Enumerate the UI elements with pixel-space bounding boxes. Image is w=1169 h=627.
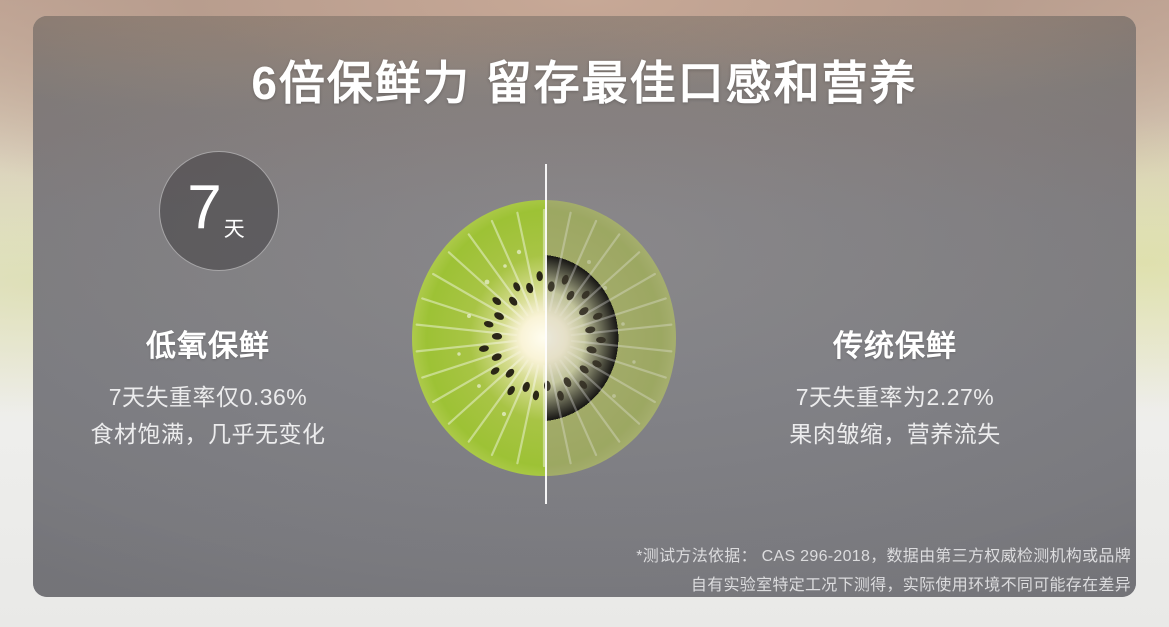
duration-badge: 7 天 bbox=[159, 151, 279, 271]
right-description-line: 果肉皱缩，营养流失 bbox=[730, 416, 1060, 453]
duration-badge-content: 7 天 bbox=[160, 152, 278, 270]
left-description-line: 食材饱满，几乎无变化 bbox=[43, 416, 373, 453]
footnote-line-1: *测试方法依据： CAS 296-2018，数据由第三方权威检测机构或品牌 bbox=[471, 542, 1131, 572]
duration-badge-number: 7 bbox=[187, 177, 221, 239]
duration-badge-unit: 天 bbox=[224, 219, 245, 240]
kiwi-slice-illustration bbox=[409, 196, 679, 479]
comparison-column-right: 传统保鲜 7天失重率为2.27% 果肉皱缩，营养流失 bbox=[730, 329, 1060, 454]
comparison-column-left: 低氧保鲜 7天失重率仅0.36% 食材饱满，几乎无变化 bbox=[43, 329, 373, 454]
right-heading: 传统保鲜 bbox=[730, 329, 1060, 365]
comparison-divider bbox=[545, 164, 547, 504]
left-stat-line: 7天失重率仅0.36% bbox=[43, 379, 373, 416]
kiwi-slice-image bbox=[409, 196, 679, 479]
right-stat-line: 7天失重率为2.27% bbox=[730, 379, 1060, 416]
banner-canvas: 6倍保鲜力 留存最佳口感和营养 7 天 bbox=[0, 0, 1169, 627]
page-title: 6倍保鲜力 留存最佳口感和营养 bbox=[0, 58, 1169, 109]
footnote: *测试方法依据： CAS 296-2018，数据由第三方权威检测机构或品牌 自有… bbox=[471, 542, 1131, 601]
left-heading: 低氧保鲜 bbox=[43, 329, 373, 365]
footnote-line-2: 自有实验室特定工况下测得，实际使用环境不同可能存在差异 bbox=[471, 571, 1131, 601]
